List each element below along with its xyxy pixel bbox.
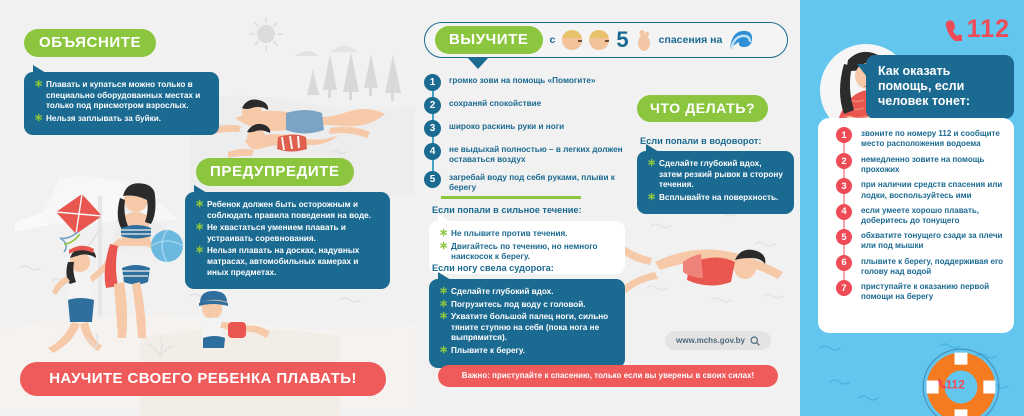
- what-to-do-heading: ЧТО ДЕЛАТЬ?: [637, 95, 768, 122]
- step-text: широко раскинь руки и ноги: [441, 120, 564, 132]
- step-text: приступайте к оказанию первой помощи на …: [852, 280, 1006, 302]
- banner-word-with: с: [550, 34, 556, 46]
- left-panel: ОБЪЯСНИТЕ Плавать и купаться можно тольк…: [0, 0, 415, 416]
- list-item: Нельзя плавать на досках, надувных матра…: [195, 246, 379, 278]
- left-bubble-warn: Ребенок должен быть осторожным и соблюда…: [185, 192, 390, 289]
- list-item: Ребенок должен быть осторожным и соблюда…: [195, 200, 379, 221]
- rescue-steps-card: 1 звоните по номеру 112 и сообщите место…: [818, 118, 1014, 333]
- list-item: 4 не выдыхай полностью – в легких должен…: [424, 143, 634, 167]
- list-item: 1 звоните по номеру 112 и сообщите место…: [826, 127, 1006, 150]
- learn-steps-list: 1 громко зови на помощь «Помогите» 2 сох…: [424, 74, 634, 198]
- step-text: загребай воду под себя руками, плыви к б…: [441, 171, 634, 194]
- list-item: Нельзя заплывать за буйки.: [34, 114, 208, 125]
- list-item: Не плывите против течения.: [439, 229, 614, 240]
- step-number: 7: [836, 280, 852, 296]
- step-text: сохраняй спокойствие: [441, 97, 541, 109]
- phone-handset-icon: [945, 19, 962, 41]
- two-children-faces-icon: [562, 30, 582, 50]
- case-label-current: Если попали в сильное течение:: [432, 205, 582, 215]
- left-bubble-explain: Плавать и купаться можно только в специа…: [24, 72, 219, 135]
- list-item: Ухватите большой палец ноги, сильно тяни…: [439, 312, 614, 344]
- banner-word-rescue: спасения на: [659, 34, 723, 46]
- lifebuoy-icon: 112: [918, 344, 1004, 416]
- left-explain-list: Плавать и купаться можно только в специа…: [34, 80, 208, 124]
- left-cta-banner: НАУЧИТЕ СВОЕГО РЕБЕНКА ПЛАВАТЬ!: [20, 362, 386, 396]
- important-note-banner: Важно: приступайте к спасению, только ес…: [438, 365, 778, 387]
- middle-panel: ВЫУЧИТЕ с 5 спасения на 1 громко зови на…: [415, 0, 800, 416]
- step-text: если умеете хорошо плавать, доберитесь д…: [852, 204, 1006, 226]
- list-item: Сделайте глубокий вдох, затем резкий рыв…: [647, 159, 783, 191]
- website-url: www.mchs.gov.by: [676, 336, 745, 345]
- banner-count: 5: [616, 29, 628, 51]
- lifebuoy-label: 112: [946, 378, 966, 392]
- right-panel: 112 Как оказать помощь, если человек тон…: [800, 0, 1024, 416]
- footprint-icon: [636, 29, 652, 51]
- right-title: Как оказать помощь, если человек тонет:: [866, 55, 1014, 119]
- list-item: 5 загребай воду под себя руками, плыви к…: [424, 171, 634, 194]
- list-item: 3 широко раскинь руки и ноги: [424, 120, 634, 139]
- infographic-poster: ОБЪЯСНИТЕ Плавать и купаться можно тольк…: [0, 0, 1024, 416]
- left-warn-list: Ребенок должен быть осторожным и соблюда…: [195, 200, 379, 278]
- list-item: 2 сохраняй спокойствие: [424, 97, 634, 116]
- emergency-number-block: 112: [945, 17, 1010, 42]
- list-item: 2 немедленно зовите на помощь прохожих: [826, 153, 1006, 175]
- step-text: звоните по номеру 112 и сообщите место р…: [852, 127, 1006, 149]
- list-item: Двигайтесь по течению, но немного наиско…: [439, 242, 614, 263]
- step-text: немедленно зовите на помощь прохожих: [852, 153, 1006, 175]
- step-number: 5: [836, 229, 852, 245]
- step-number: 3: [424, 120, 441, 137]
- step-text: громко зови на помощь «Помогите»: [441, 74, 595, 86]
- wave-icon: [729, 30, 753, 51]
- step-text: плывите к берегу, поддерживая его голову…: [852, 255, 1006, 277]
- list-item: Плавать и купаться можно только в специа…: [34, 80, 208, 112]
- list-item: 7 приступайте к оказанию первой помощи н…: [826, 280, 1006, 303]
- whirlpool-list: Сделайте глубокий вдох, затем резкий рыв…: [647, 159, 783, 203]
- sun-icon: [257, 25, 275, 43]
- step-text: при наличии средств спасения или лодки, …: [852, 178, 1006, 200]
- what-to-do-label: ЧТО ДЕЛАТЬ?: [637, 95, 768, 122]
- beach-ball: [151, 230, 183, 262]
- left-heading-explain-label: ОБЪЯСНИТЕ: [24, 29, 156, 57]
- step-text: обхватите тонущего сзади за плечи или по…: [852, 229, 1006, 251]
- left-heading-warn: ПРЕДУПРЕДИТЕ: [196, 158, 354, 186]
- step-number: 6: [836, 255, 852, 271]
- step-number: 2: [424, 97, 441, 114]
- step-number: 1: [836, 127, 852, 143]
- list-item: Плывите к берегу.: [439, 346, 614, 357]
- step-number: 3: [836, 178, 852, 194]
- step-number: 4: [836, 204, 852, 220]
- list-item: 6 плывите к берегу, поддерживая его голо…: [826, 255, 1006, 277]
- step-number: 2: [836, 153, 852, 169]
- left-heading-warn-label: ПРЕДУПРЕДИТЕ: [196, 158, 354, 186]
- two-children-faces-icon: [589, 30, 609, 50]
- step-number: 5: [424, 171, 441, 188]
- list-item: Сделайте глубокий вдох.: [439, 287, 614, 298]
- list-item: 4 если умеете хорошо плавать, доберитесь…: [826, 204, 1006, 226]
- list-item: 1 громко зови на помощь «Помогите»: [424, 74, 634, 93]
- step-text: не выдыхай полностью – в легких должен о…: [441, 143, 634, 166]
- learn-pill-label: ВЫУЧИТЕ: [435, 26, 543, 54]
- green-divider: [441, 196, 581, 199]
- search-icon: [750, 336, 760, 346]
- list-item: Погрузитесь под воду с головой.: [439, 300, 614, 311]
- step-number: 4: [424, 143, 441, 160]
- list-item: 3 при наличии средств спасения или лодки…: [826, 178, 1006, 200]
- step-number: 1: [424, 74, 441, 91]
- learn-banner: ВЫУЧИТЕ с 5 спасения на: [424, 22, 788, 58]
- swimming-woman: [618, 244, 783, 293]
- cramp-list: Сделайте глубокий вдох. Погрузитесь под …: [439, 287, 614, 357]
- left-heading-explain: ОБЪЯСНИТЕ: [24, 29, 156, 57]
- emergency-number: 112: [967, 17, 1010, 42]
- case-bubble-whirlpool: Сделайте глубокий вдох, затем резкий рыв…: [637, 151, 794, 214]
- list-item: Всплывайте на поверхность.: [647, 193, 783, 204]
- list-item: 5 обхватите тонущего сзади за плечи или …: [826, 229, 1006, 251]
- current-list: Не плывите против течения. Двигайтесь по…: [439, 229, 614, 263]
- case-bubble-cramp: Сделайте глубокий вдох. Погрузитесь под …: [429, 279, 625, 368]
- website-chip[interactable]: www.mchs.gov.by: [665, 331, 771, 350]
- list-item: Не хвастаться умением плавать и устраива…: [195, 223, 379, 244]
